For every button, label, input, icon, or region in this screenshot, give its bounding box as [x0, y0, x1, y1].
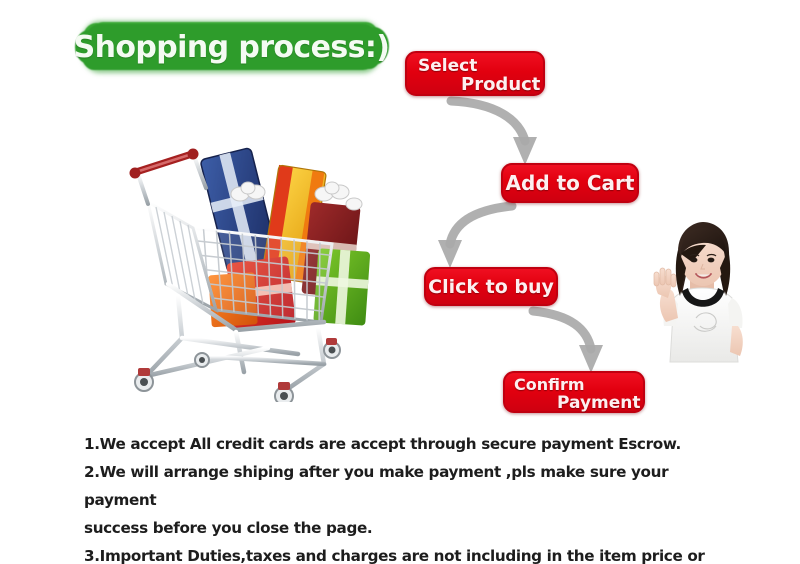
terms-line-4: 3.Important Duties,taxes and charges are…: [84, 542, 744, 564]
terms-line-2: 2.We will arrange shiping after you make…: [84, 458, 744, 514]
cart-handle: [130, 149, 207, 205]
arrow-select-to-cart: [443, 93, 578, 171]
step-button-select-product[interactable]: Select Product: [405, 51, 545, 96]
terms-line-1: 1.We accept All credit cards are accept …: [84, 430, 744, 458]
step-label-line1: Select: [418, 56, 477, 76]
arrow-buy-to-confirm: [525, 305, 640, 377]
page-title-banner: Shopping process:): [84, 24, 379, 70]
step-button-confirm-payment[interactable]: Confirm Payment: [503, 371, 645, 413]
terms-text-block: 1.We accept All credit cards are accept …: [84, 430, 744, 564]
page-title: Shopping process:): [84, 24, 379, 70]
terms-line-3: success before you close the page.: [84, 514, 744, 542]
shopping-process-banner: Shopping process:): [0, 0, 800, 564]
step-label-line2: Product: [461, 74, 540, 95]
step-label-line2: Payment: [557, 393, 641, 413]
step-button-add-to-cart[interactable]: Add to Cart: [501, 163, 639, 203]
arrow-cart-to-buy: [436, 200, 556, 272]
step-button-click-to-buy[interactable]: Click to buy: [424, 267, 558, 306]
step-label-line1: Confirm: [514, 375, 585, 394]
shopping-cart-image: [118, 132, 386, 402]
customer-photo: [644, 222, 762, 378]
